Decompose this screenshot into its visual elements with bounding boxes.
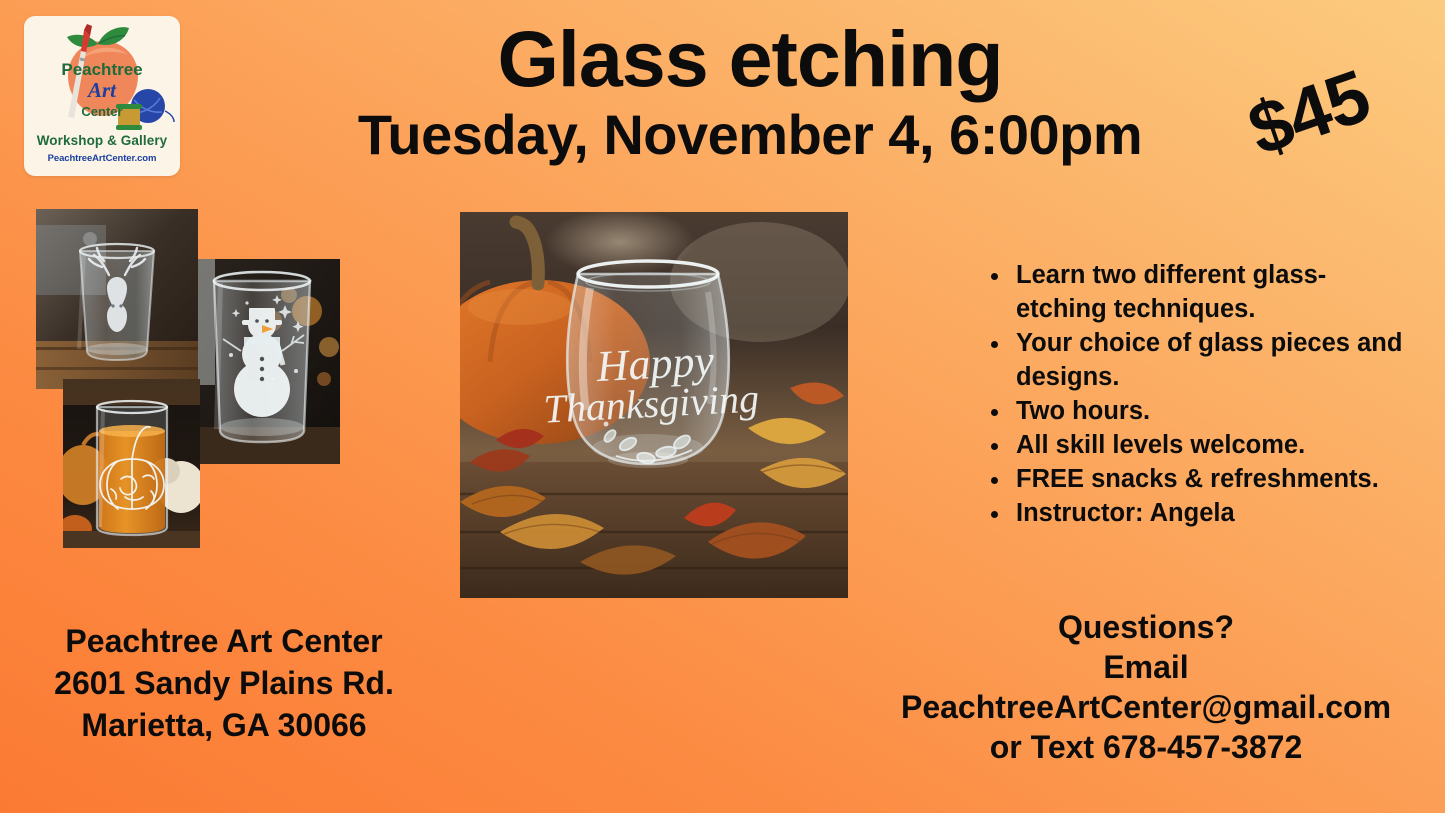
peach-palette-icon: Peachtree Art Center [24,18,180,134]
gallery-photo-snowman [181,259,340,464]
venue-address: Peachtree Art Center 2601 Sandy Plains R… [24,620,424,746]
address-line-3: Marietta, GA 30066 [24,704,424,746]
contact-email[interactable]: Email PeachtreeArtCenter@gmail.com [860,647,1432,727]
logo-tagline: Workshop & Gallery [24,133,180,148]
gallery-photo-deer [36,209,198,389]
svg-text:Art: Art [86,78,117,102]
contact-block: Questions? Email PeachtreeArtCenter@gmai… [860,607,1432,767]
address-line-2: 2601 Sandy Plains Rd. [24,662,424,704]
list-item: Your choice of glass pieces and designs. [1012,326,1412,394]
svg-text:Peachtree: Peachtree [61,60,142,79]
snowman-glass-image [181,259,340,464]
questions-heading: Questions? [860,607,1432,647]
flyer-canvas: Peachtree Art Center Workshop & Gallery … [0,0,1445,813]
gallery-photo-pumpkin [63,379,200,548]
list-item: Learn two different glass-etching techni… [1012,258,1412,326]
thanksgiving-glass-image: Happy Thanksgiving [460,212,848,598]
feature-photo-thanksgiving-glass: Happy Thanksgiving [460,212,848,598]
list-item: All skill levels welcome. [1012,428,1412,462]
logo-artwork: Peachtree Art Center [24,18,180,134]
svg-text:Center: Center [81,104,122,119]
contact-phone[interactable]: or Text 678-457-3872 [860,727,1432,767]
address-line-1: Peachtree Art Center [24,620,424,662]
price-badge: $45 [1238,53,1380,173]
details-bullet-list: Learn two different glass-etching techni… [978,258,1412,530]
list-item: Two hours. [1012,394,1412,428]
page-title: Glass etching [330,12,1170,105]
logo-website: PeachtreeArtCenter.com [24,153,180,164]
list-item: Instructor: Angela [1012,496,1412,530]
deer-glass-image [36,209,198,389]
peachtree-art-center-logo: Peachtree Art Center Workshop & Gallery … [24,16,180,176]
list-item: FREE snacks & refreshments. [1012,462,1412,496]
pumpkin-glass-image [63,379,200,548]
event-datetime: Tuesday, November 4, 6:00pm [300,101,1200,169]
